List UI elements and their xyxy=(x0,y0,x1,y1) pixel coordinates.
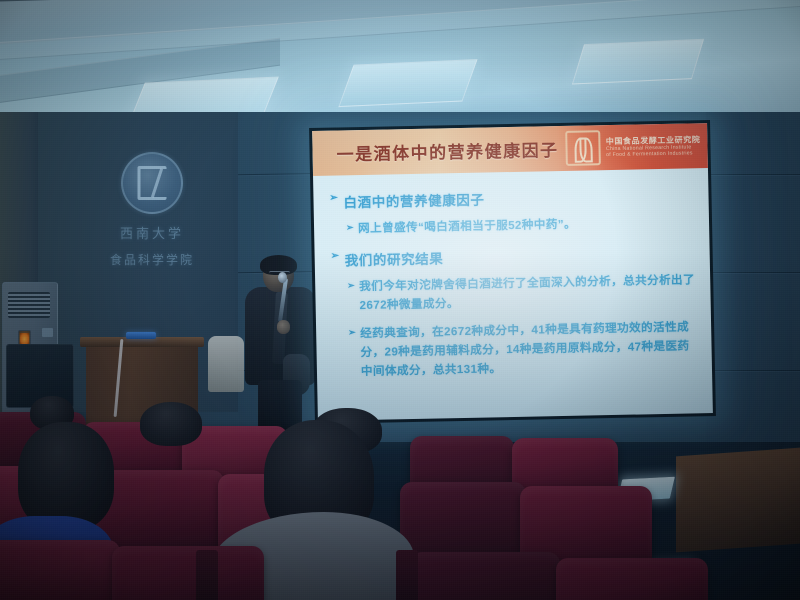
institute-logo: 中国食品发酵工业研究院 China National Research Inst… xyxy=(561,123,707,171)
bullet-arrow-icon: ➢ xyxy=(331,249,340,264)
ac-vent-grille xyxy=(8,292,50,318)
slide-bullet-text: 我们的研究结果 xyxy=(344,247,443,269)
slide-bullet-text: 我们今年对沱牌舍得白酒进行了全面深入的分析，总共分析出了2672种微量成分。 xyxy=(359,271,697,315)
wall-emblem-line2: 食品科学学院 xyxy=(92,251,212,268)
audience-member-center xyxy=(140,402,202,446)
bullet-arrow-icon: ➢ xyxy=(346,220,354,236)
bullet-arrow-icon: ➢ xyxy=(347,278,355,294)
institute-name-en-line2: of Food & Fermentation Industries xyxy=(606,150,701,158)
projection-screen[interactable]: 一是酒体中的营养健康因子 中国食品发酵工业研究院 China National … xyxy=(309,120,716,424)
chair-back xyxy=(208,336,244,392)
seat-armrest xyxy=(196,550,218,600)
slide-header: 一是酒体中的营养健康因子 中国食品发酵工业研究院 China National … xyxy=(312,123,708,176)
lecture-hall-photo: 西南大学 食品科学学院 一是酒体中的营养健康因子 xyxy=(0,0,800,600)
ff-monogram-icon xyxy=(566,130,602,166)
university-seal-icon xyxy=(121,152,183,214)
slide-bullet-text: 经药典查询，在2672种成分中，41种是具有药理功效的活性成分，29种是药用辅料… xyxy=(360,319,698,382)
auditorium-seat[interactable] xyxy=(556,558,708,600)
presenter-hand xyxy=(277,320,290,334)
recessed-ceiling-light xyxy=(338,59,477,107)
auditorium-seat[interactable] xyxy=(0,540,120,600)
bullet-arrow-icon: ➢ xyxy=(348,325,356,341)
slide-bullet: ➢ 白酒中的营养健康因子 xyxy=(329,184,694,211)
slide-bullet: ➢ 经药典查询，在2672种成分中，41种是具有药理功效的活性成分，29种是药用… xyxy=(348,319,698,382)
seat-armrest xyxy=(396,550,418,600)
recessed-ceiling-light xyxy=(572,39,704,85)
auditorium-seat[interactable] xyxy=(112,546,264,600)
slide: 一是酒体中的营养健康因子 中国食品发酵工业研究院 China National … xyxy=(312,123,713,421)
lectern-device-indicator[interactable] xyxy=(126,332,156,339)
wall-emblem: 西南大学 食品科学学院 xyxy=(92,152,212,282)
ac-brand-badge xyxy=(42,328,53,337)
slide-bullet-text: 网上曾盛传“喝白酒相当于服52种中药”。 xyxy=(358,216,576,239)
bullet-arrow-icon: ➢ xyxy=(329,191,338,206)
wall-right xyxy=(706,112,800,442)
slide-body: ➢ 白酒中的营养健康因子 ➢ 网上曾盛传“喝白酒相当于服52种中药”。 ➢ 我们… xyxy=(313,168,712,383)
slide-title: 一是酒体中的营养健康因子 xyxy=(312,126,562,176)
audience-member-front-left xyxy=(18,422,114,530)
slide-bullet: ➢ 我们的研究结果 xyxy=(331,242,696,269)
wall-emblem-line1: 西南大学 xyxy=(92,223,212,242)
slide-bullet: ➢ 我们今年对沱牌舍得白酒进行了全面深入的分析，总共分析出了2672种微量成分。 xyxy=(347,271,697,316)
slide-bullet-text: 白酒中的营养健康因子 xyxy=(343,189,484,212)
audience-seating xyxy=(0,400,800,600)
auditorium-seat[interactable] xyxy=(410,552,560,600)
slide-bullet: ➢ 网上曾盛传“喝白酒相当于服52种中药”。 xyxy=(346,213,695,239)
microphone-head-icon xyxy=(278,272,287,283)
